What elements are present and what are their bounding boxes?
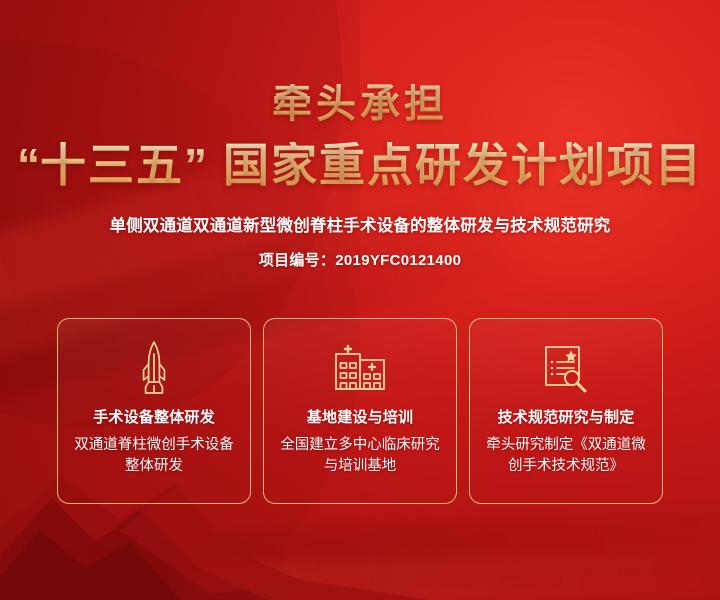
title-quote-open: “	[17, 139, 40, 191]
title-main: “十三五”国家重点研发计划项目	[0, 142, 720, 188]
feature-card-description: 牵头研究制定《双通道微创手术技术规范》	[482, 435, 650, 477]
feature-card-standards[interactable]: 技术规范研究与制定 牵头研究制定《双通道微创手术技术规范》	[469, 318, 663, 504]
feature-card-title: 基地建设与培训	[307, 406, 413, 427]
feature-card-equipment[interactable]: 手术设备整体研发 双通道脊柱微创手术设备整体研发	[57, 318, 251, 504]
poster-root: 牵头承担 “十三五”国家重点研发计划项目 单侧双通道双通道新型微创脊柱手术设备的…	[0, 0, 720, 600]
title-main-rest: 国家重点研发计划项目	[223, 139, 703, 191]
title-plan-name: 十三五	[40, 139, 184, 191]
feature-card-title: 技术规范研究与制定	[498, 406, 635, 427]
feature-card-description: 双通道脊柱微创手术设备整体研发	[70, 435, 238, 477]
feature-card-title: 手术设备整体研发	[93, 406, 215, 427]
project-subtitle: 单侧双通道双通道新型微创脊柱手术设备的整体研发与技术规范研究	[0, 212, 720, 236]
feature-card-training-base[interactable]: 基地建设与培训 全国建立多中心临床研究与培训基地	[263, 318, 457, 504]
feature-card-list: 手术设备整体研发 双通道脊柱微创手术设备整体研发	[57, 318, 663, 504]
poster-header: 牵头承担 “十三五”国家重点研发计划项目 单侧双通道双通道新型微创脊柱手术设备的…	[0, 0, 720, 270]
rocket-icon	[135, 340, 173, 396]
title-lead: 牵头承担	[0, 84, 720, 124]
project-number: 项目编号：2019YFC0121400	[0, 249, 720, 270]
title-quote-close: ”	[184, 139, 207, 191]
feature-card-description: 全国建立多中心临床研究与培训基地	[276, 435, 444, 477]
document-magnifier-icon	[541, 340, 591, 396]
hospital-building-icon	[333, 340, 387, 396]
